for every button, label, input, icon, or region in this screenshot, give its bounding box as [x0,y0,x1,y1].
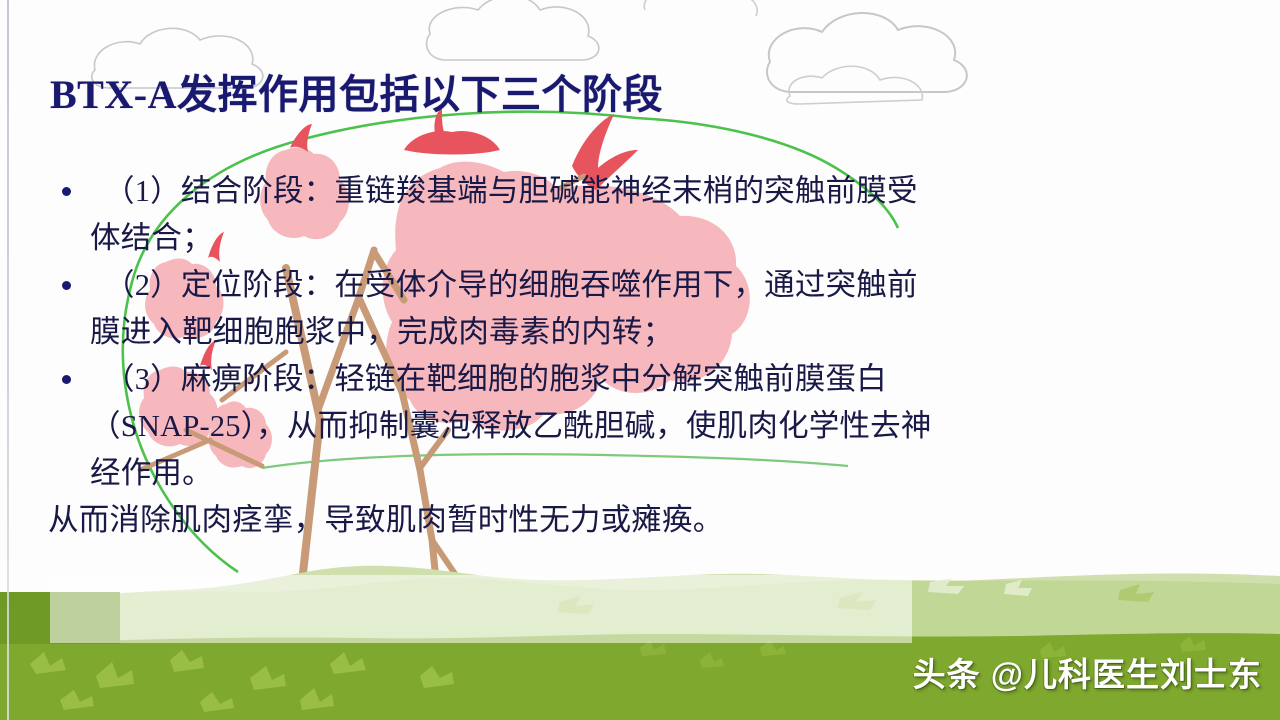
bullet-item-1-text: （1）结合阶段：重链羧基端与胆碱能神经末梢的突触前膜受体结合； [90,174,918,255]
slide-canvas: BTX-A发挥作用包括以下三个阶段 （1）结合阶段：重链羧基端与胆碱能神经末梢的… [0,0,1280,720]
slide-body: （1）结合阶段：重链羧基端与胆碱能神经末梢的突触前膜受体结合； （2）定位阶段：… [48,168,948,544]
bullet-item-1: （1）结合阶段：重链羧基端与胆碱能神经末梢的突触前膜受体结合； [48,168,948,262]
cloud-icon [767,13,967,92]
bullet-item-2-text: （2）定位阶段：在受体介导的细胞吞噬作用下，通过突触前膜进入靶细胞胞浆中，完成肉… [90,268,918,349]
page-title: BTX-A发挥作用包括以下三个阶段 [50,62,663,120]
cloud-icon [427,0,599,60]
cloud-icon [787,66,923,104]
cloud-icon [644,0,757,16]
left-edge-rule [7,0,9,720]
bullet-item-2: （2）定位阶段：在受体介导的细胞吞噬作用下，通过突触前膜进入靶细胞胞浆中，完成肉… [48,262,948,356]
closing-line: 从而消除肌肉痉挛，导致肌肉暂时性无力或瘫痪。 [48,497,948,544]
bottom-translucent-panel [50,575,912,643]
bullet-item-3: （3）麻痹阶段：轻链在靶细胞的胞浆中分解突触前膜蛋白（SNAP-25），从而抑制… [48,356,948,497]
bullet-item-3-text: （3）麻痹阶段：轻链在靶细胞的胞浆中分解突触前膜蛋白（SNAP-25），从而抑制… [90,362,932,490]
watermark-text: 头条 @儿科医生刘士东 [913,648,1262,696]
